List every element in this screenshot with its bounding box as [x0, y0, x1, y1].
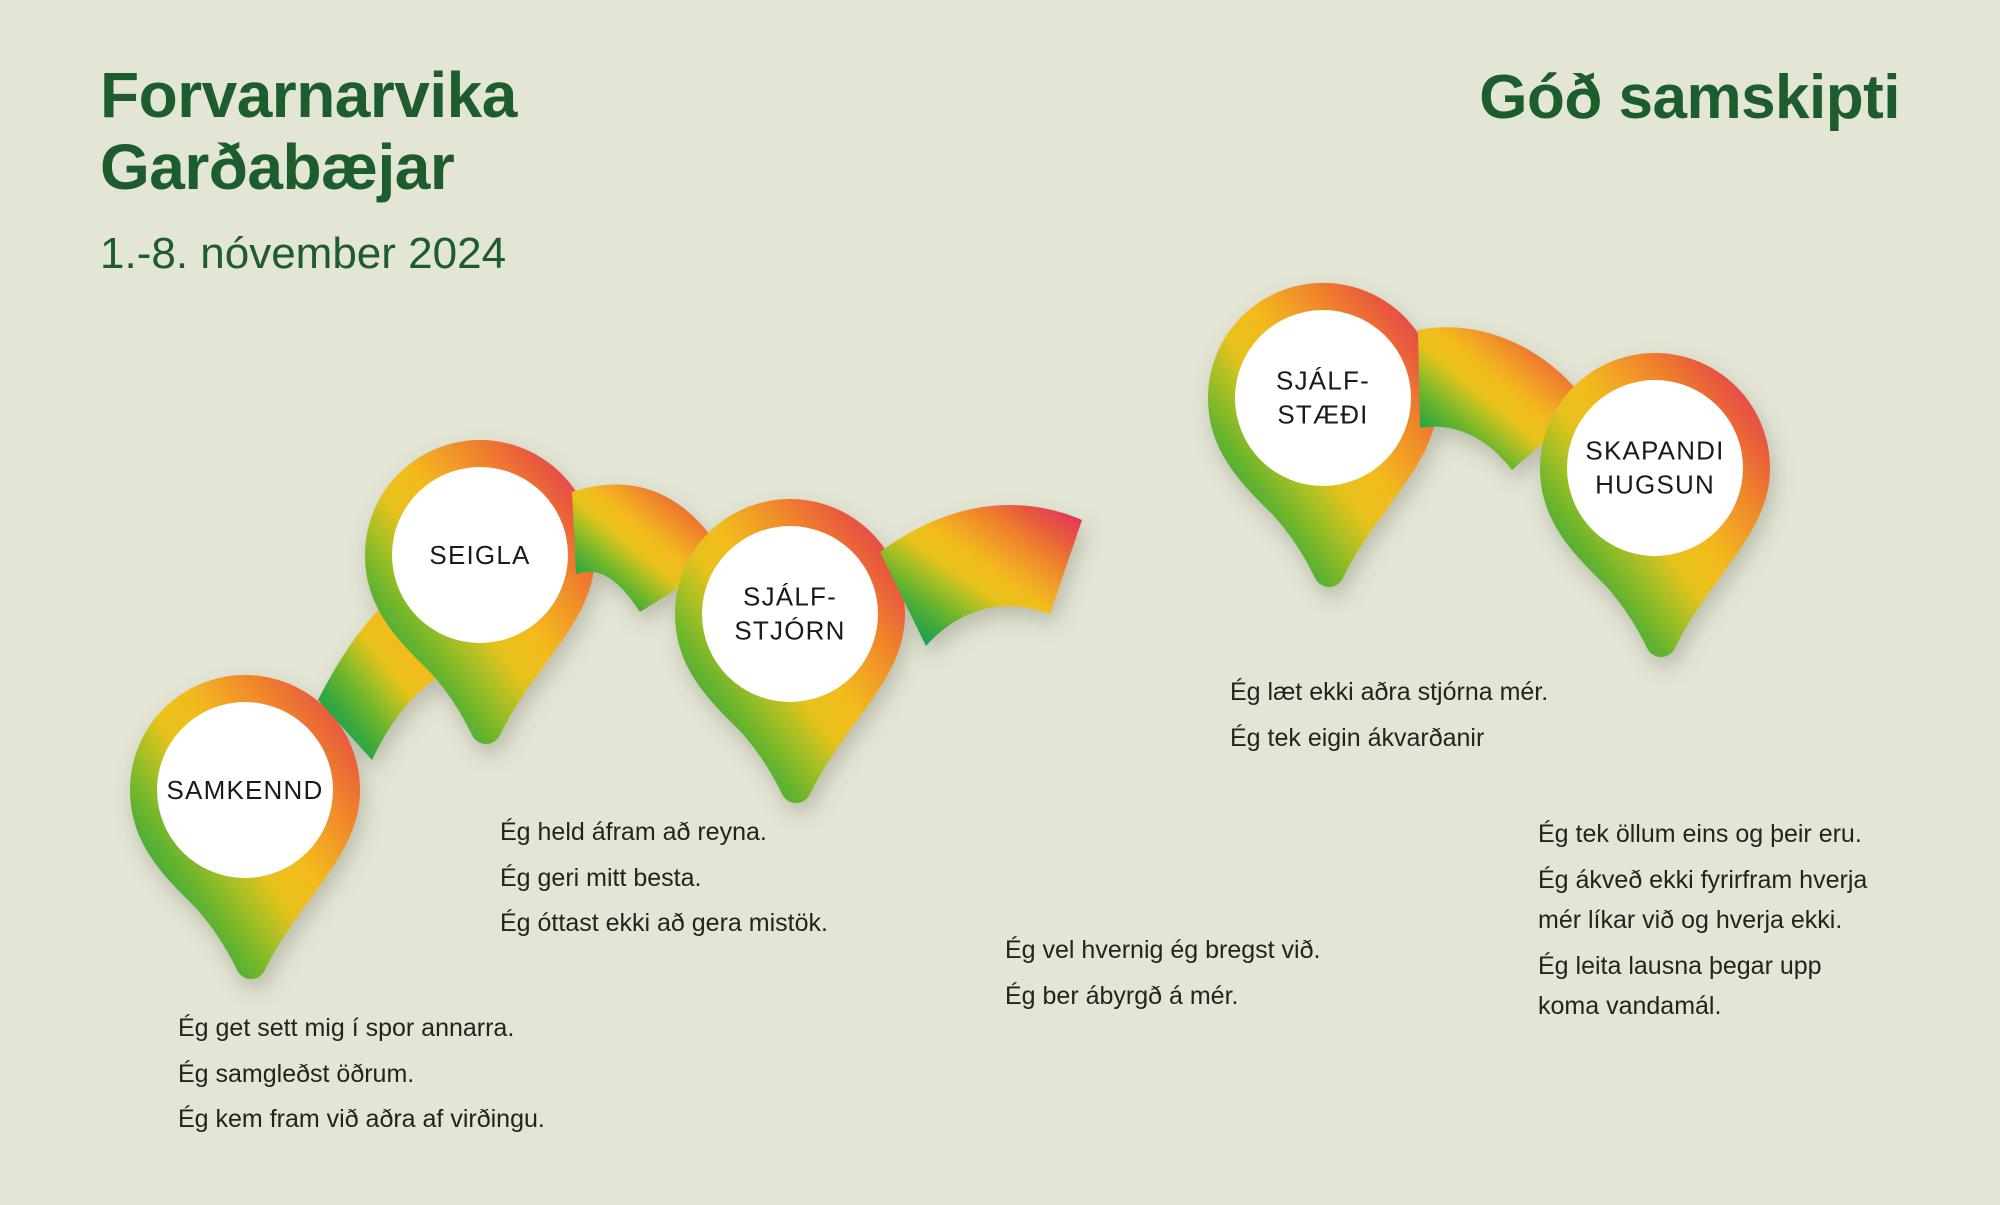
statement-line: Ég held áfram að reyna.: [500, 812, 930, 853]
statement-line: Ég leita lausna þegar upp koma vandamál.: [1538, 946, 1928, 1027]
pin-discs: [157, 310, 1743, 878]
statements-samkennd: Ég get sett mig í spor annarra. Ég samgl…: [178, 1008, 648, 1140]
statement-line: Ég ber ábyrgð á mér.: [1005, 976, 1425, 1017]
statement-line: Ég læt ekki aðra stjórna mér.: [1230, 672, 1660, 713]
pin-label-sjalfstjorn[interactable]: SJÁLF- STJÓRN: [695, 580, 885, 649]
pin-label-seigla[interactable]: SEIGLA: [385, 538, 575, 572]
statement-line: Ég óttast ekki að gera mistök.: [500, 903, 930, 944]
poster-canvas: Forvarnarvika Garðabæjar 1.-8. nóvember …: [0, 0, 2000, 1205]
statements-sjalfstaedi: Ég læt ekki aðra stjórna mér. Ég tek eig…: [1230, 672, 1660, 758]
statement-line: Ég ákveð ekki fyrirfram hverja mér líkar…: [1538, 860, 1928, 941]
pin-label-skapandi-hugsun[interactable]: SKAPANDI HUGSUN: [1560, 434, 1750, 503]
statement-line: Ég tek öllum eins og þeir eru.: [1538, 814, 1928, 855]
title-block: Forvarnarvika Garðabæjar 1.-8. nóvember …: [100, 60, 1000, 279]
statement-line: Ég vel hvernig ég bregst við.: [1005, 930, 1425, 971]
statement-line: Ég kem fram við aðra af virðingu.: [178, 1099, 648, 1140]
pin-label-samkennd[interactable]: SAMKENND: [150, 773, 340, 807]
statements-skapandi-hugsun: Ég tek öllum eins og þeir eru. Ég ákveð …: [1538, 814, 1928, 1027]
ribbon-path: [130, 283, 1770, 979]
statement-line: Ég geri mitt besta.: [500, 858, 930, 899]
statements-seigla: Ég held áfram að reyna. Ég geri mitt bes…: [500, 812, 930, 944]
statements-sjalfstjorn: Ég vel hvernig ég bregst við. Ég ber áby…: [1005, 930, 1425, 1016]
statement-line: Ég tek eigin ákvarðanir: [1230, 718, 1660, 759]
page-title: Forvarnarvika Garðabæjar: [100, 60, 1000, 203]
pin-label-sjalfstaedi[interactable]: SJÁLF- STÆÐI: [1228, 364, 1418, 433]
date-subtitle: 1.-8. nóvember 2024: [100, 229, 1000, 279]
theme-title: Góð samskipti: [1479, 62, 1900, 133]
statement-line: Ég samgleðst öðrum.: [178, 1054, 648, 1095]
statement-line: Ég get sett mig í spor annarra.: [178, 1008, 648, 1049]
